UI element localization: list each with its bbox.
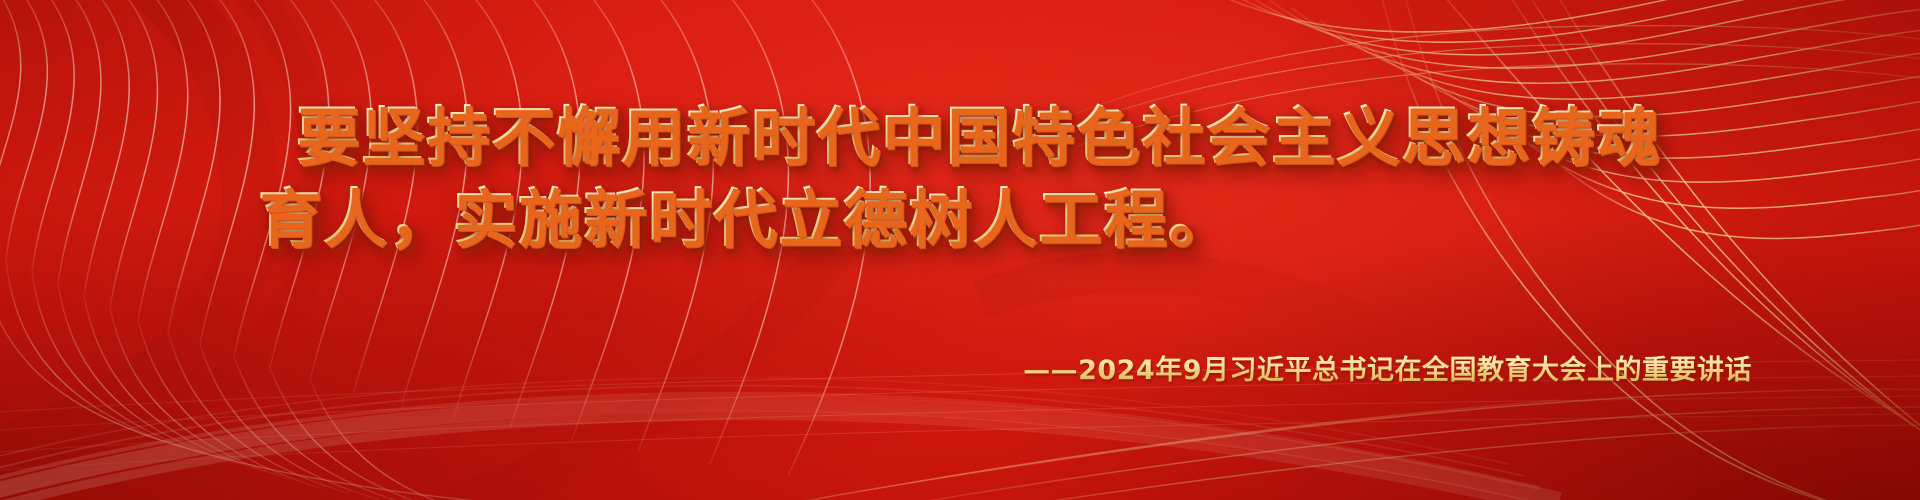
attribution-source: ——2024年9月习近平总书记在全国教育大会上的重要讲话 — [1023, 352, 1752, 390]
headline-line-1: 要坚持不懈用新时代中国特色社会主义思想铸魂 — [0, 96, 1920, 178]
quote-banner: 要坚持不懈用新时代中国特色社会主义思想铸魂 育人，实施新时代立德树人工程。 ——… — [0, 0, 1920, 500]
headline-line-2: 育人，实施新时代立德树人工程。 — [0, 178, 1920, 260]
headline-block: 要坚持不懈用新时代中国特色社会主义思想铸魂 育人，实施新时代立德树人工程。 — [0, 96, 1920, 260]
banner-content: 要坚持不懈用新时代中国特色社会主义思想铸魂 育人，实施新时代立德树人工程。 ——… — [0, 0, 1920, 500]
